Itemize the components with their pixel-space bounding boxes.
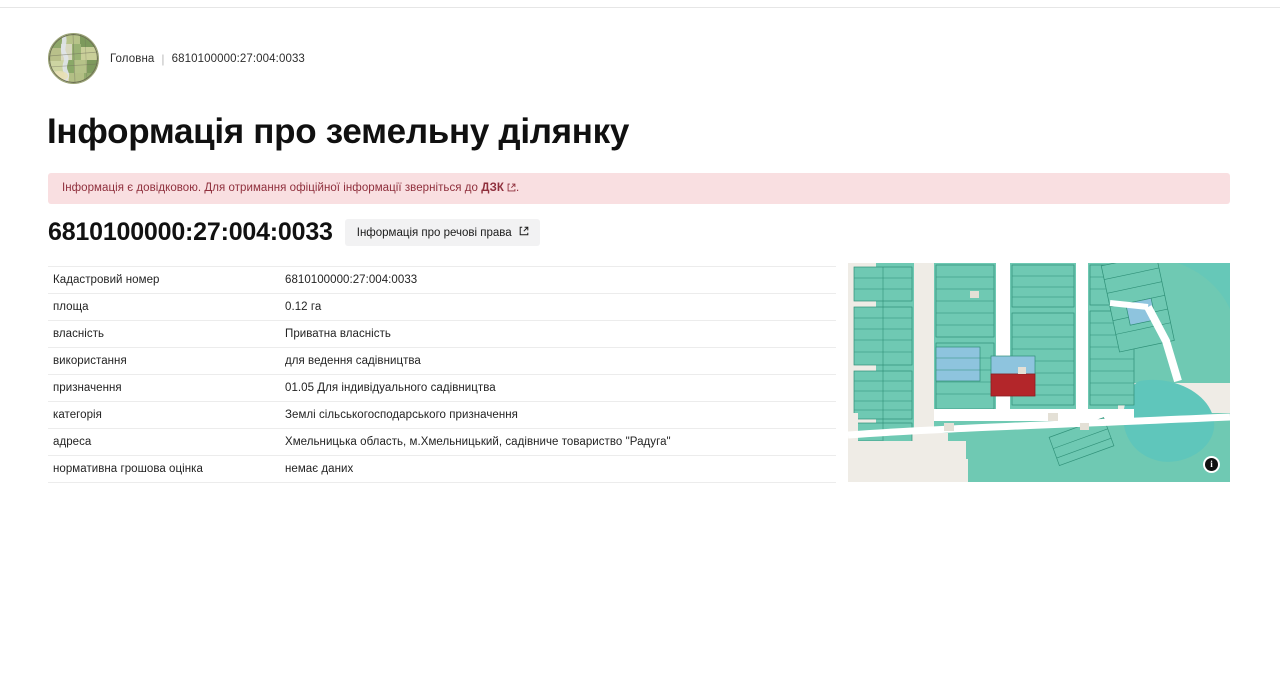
cadastral-number-heading: 6810100000:27:004:0033 [48, 220, 333, 245]
disclaimer-text-after: . [516, 182, 519, 194]
breadcrumb-trail: Головна | 6810100000:27:004:0033 [110, 52, 305, 66]
table-row: площа 0.12 га [48, 294, 836, 321]
page-root: Головна | 6810100000:27:004:0033 Інформа… [0, 0, 1280, 684]
table-cell-value: для ведення садівництва [280, 348, 836, 375]
table-row: адреса Хмельницька область, м.Хмельницьк… [48, 429, 836, 456]
page-title: Інформація про земельну ділянку [47, 112, 629, 152]
top-border [0, 0, 1280, 8]
map-attribution-button[interactable]: i [1203, 456, 1220, 473]
table-cell-value: Землі сільськогосподарського призначення [280, 402, 836, 429]
table-cell-key: категорія [48, 402, 280, 429]
cadastral-map-logo-icon[interactable] [48, 33, 99, 84]
parcel-map[interactable]: i [848, 263, 1230, 482]
table-row: використання для ведення садівництва [48, 348, 836, 375]
external-link-icon [519, 226, 529, 239]
table-cell-value: Хмельницька область, м.Хмельницький, сад… [280, 429, 836, 456]
table-cell-value: 0.12 га [280, 294, 836, 321]
table-cell-key: використання [48, 348, 280, 375]
table-cell-key: адреса [48, 429, 280, 456]
property-rights-button-label: Інформація про речові права [357, 227, 512, 239]
table-cell-value: Приватна власність [280, 321, 836, 348]
disclaimer-alert-text: Інформація є довідковою. Для отримання о… [62, 182, 519, 195]
table-cell-value: 01.05 Для індивідуального садівництва [280, 375, 836, 402]
dzk-link[interactable]: ДЗК [481, 182, 504, 194]
disclaimer-alert: Інформація є довідковою. Для отримання о… [48, 173, 1230, 204]
parcel-info-table: Кадастровий номер 6810100000:27:004:0033… [48, 266, 836, 483]
table-cell-value: немає даних [280, 456, 836, 483]
table-row: Кадастровий номер 6810100000:27:004:0033 [48, 267, 836, 294]
table-cell-key: площа [48, 294, 280, 321]
disclaimer-text-before: Інформація є довідковою. Для отримання о… [62, 182, 481, 194]
breadcrumb-current: 6810100000:27:004:0033 [172, 53, 305, 65]
breadcrumb-home-link[interactable]: Головна [110, 53, 154, 65]
breadcrumb-separator: | [161, 52, 164, 66]
table-cell-key: власність [48, 321, 280, 348]
table-row: нормативна грошова оцінка немає даних [48, 456, 836, 483]
table-cell-key: призначення [48, 375, 280, 402]
table-row: призначення 01.05 Для індивідуального са… [48, 375, 836, 402]
table-cell-key: Кадастровий номер [48, 267, 280, 294]
table-row: власність Приватна власність [48, 321, 836, 348]
info-icon: i [1205, 458, 1218, 471]
table-cell-key: нормативна грошова оцінка [48, 456, 280, 483]
cadastral-heading-row: 6810100000:27:004:0033 Інформація про ре… [48, 219, 540, 246]
property-rights-button[interactable]: Інформація про речові права [345, 219, 540, 246]
parcel-info-table-body: Кадастровий номер 6810100000:27:004:0033… [48, 267, 836, 483]
external-link-icon [507, 183, 516, 195]
table-row: категорія Землі сільськогосподарського п… [48, 402, 836, 429]
table-cell-value: 6810100000:27:004:0033 [280, 267, 836, 294]
breadcrumb: Головна | 6810100000:27:004:0033 [48, 33, 305, 84]
